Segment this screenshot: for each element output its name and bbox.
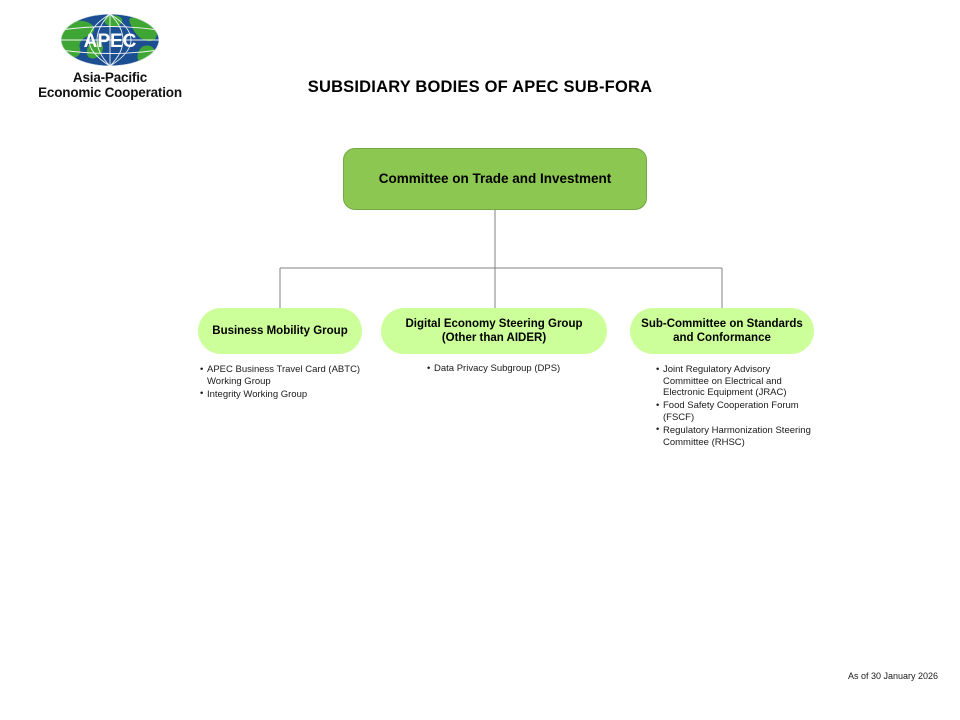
apec-logo-acronym: APEC (84, 31, 137, 52)
apec-globe-icon: APEC (58, 12, 162, 68)
node-business-mobility-group[interactable]: Business Mobility Group (198, 308, 362, 354)
node-label: Sub-Committee on Standards and Conforman… (630, 317, 814, 345)
page-title: SUBSIDIARY BODIES OF APEC SUB-FORA (0, 78, 960, 97)
list-item: Regulatory Harmonization Steering Commit… (656, 425, 814, 448)
list-item: Integrity Working Group (200, 389, 362, 401)
node-sub-committee-on-standards-and-conformance[interactable]: Sub-Committee on Standards and Conforman… (630, 308, 814, 354)
list-item: APEC Business Travel Card (ABTC) Working… (200, 364, 362, 387)
node-committee-on-trade-and-investment[interactable]: Committee on Trade and Investment (343, 148, 647, 210)
sub-fora-list-business-mobility-group: APEC Business Travel Card (ABTC) Working… (198, 364, 362, 400)
sub-fora-list-sub-committee-on-standards-and-conformance: Joint Regulatory Advisory Committee on E… (630, 364, 814, 448)
list-item: Joint Regulatory Advisory Committee on E… (656, 364, 814, 399)
list-item: Data Privacy Subgroup (DPS) (427, 363, 607, 375)
list-item: Food Safety Cooperation Forum (FSCF) (656, 400, 814, 423)
node-digital-economy-steering-group[interactable]: Digital Economy Steering Group (Other th… (381, 308, 607, 354)
sub-fora-list-digital-economy-steering-group: Data Privacy Subgroup (DPS) (381, 363, 607, 375)
branch-business-mobility-group: Business Mobility Group APEC Business Tr… (198, 308, 362, 402)
node-label: Committee on Trade and Investment (371, 171, 620, 187)
node-label: Business Mobility Group (202, 324, 357, 338)
node-label: Digital Economy Steering Group (Other th… (381, 317, 607, 345)
as-of-date: As of 30 January 2026 (848, 671, 938, 681)
branch-digital-economy-steering-group: Digital Economy Steering Group (Other th… (381, 308, 607, 376)
branch-sub-committee-on-standards-and-conformance: Sub-Committee on Standards and Conforman… (630, 308, 814, 450)
